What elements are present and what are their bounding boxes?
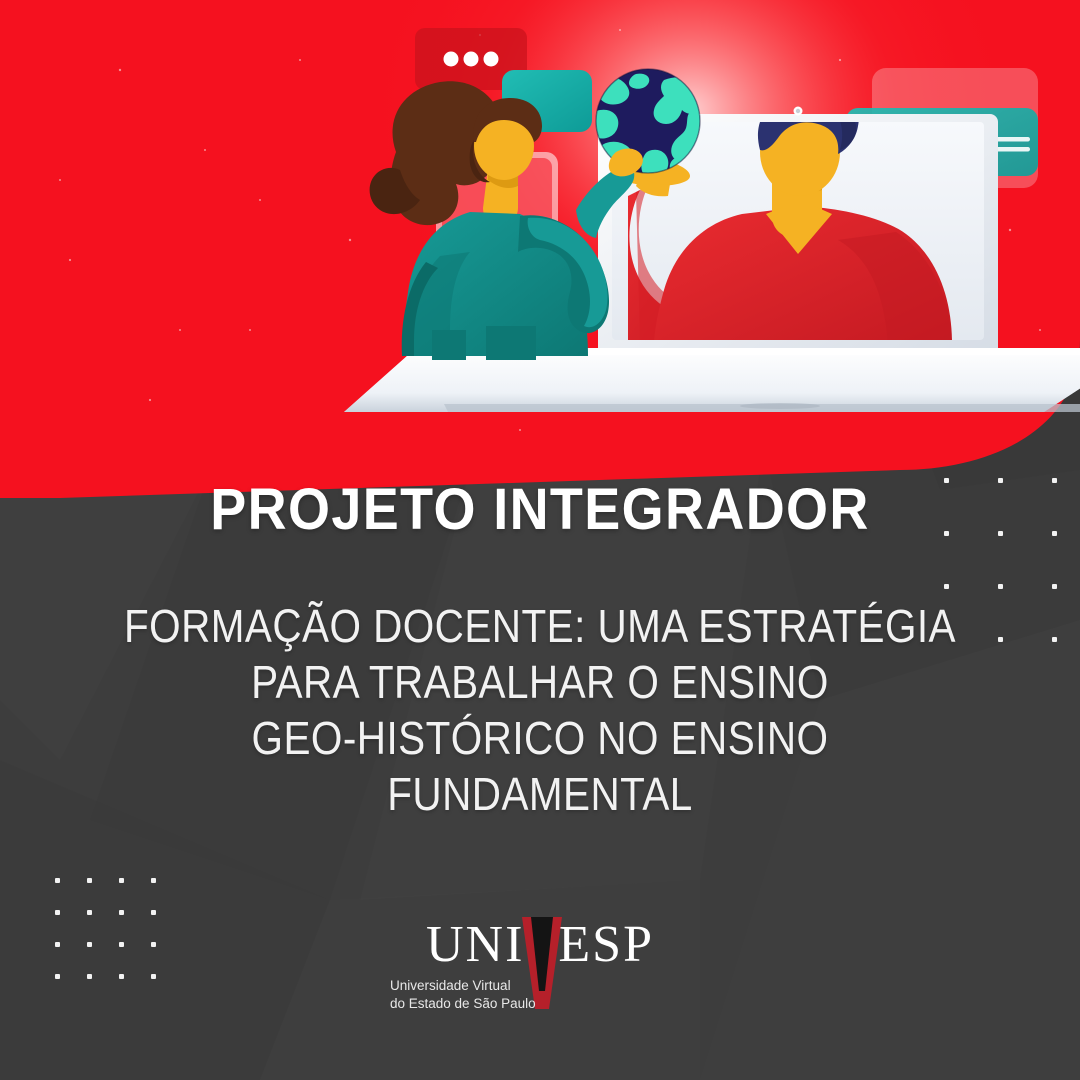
logo-tagline: Universidade Virtual do Estado de São Pa… <box>390 977 572 1013</box>
logo-word-right: ESP <box>558 916 654 973</box>
logo-tagline-line1: Universidade Virtual <box>390 977 572 995</box>
univesp-logo: UNIESP Universidade Virtual do Estado de… <box>0 915 1080 1025</box>
poster-canvas: PROJETO INTEGRADOR FORMAÇÃO DOCENTE: UMA… <box>0 0 1080 1080</box>
page-subtitle: FORMAÇÃO DOCENTE: UMA ESTRATÉGIA PARA TR… <box>118 598 963 822</box>
subtitle-line: PARA TRABALHAR O ENSINO <box>118 654 963 710</box>
illustration-distance-learning <box>0 0 1080 470</box>
subtitle-line: GEO-HISTÓRICO NO ENSINO <box>118 710 963 766</box>
subtitle-line: FORMAÇÃO DOCENTE: UMA ESTRATÉGIA <box>118 598 963 654</box>
subtitle-line: FUNDAMENTAL <box>118 766 963 822</box>
logo-word-left: UNI <box>426 916 524 973</box>
logo-tagline-line2: do Estado de São Paulo <box>390 995 572 1013</box>
page-title: PROJETO INTEGRADOR <box>38 476 1042 543</box>
